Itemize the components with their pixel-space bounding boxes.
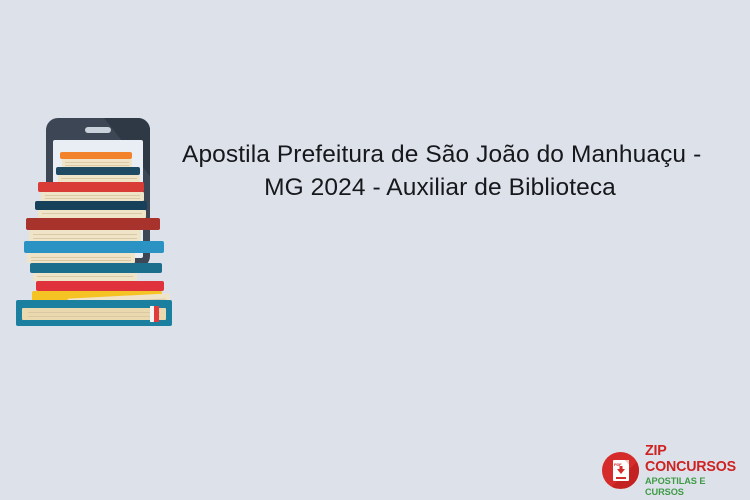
bookmark-ribbon	[154, 306, 159, 322]
book-lightblue	[24, 241, 164, 253]
book-navy-second-pages	[58, 175, 140, 182]
pdf-download-circle-icon: PDF	[602, 452, 639, 489]
book-teal-mid	[30, 263, 162, 273]
logo-title: ZIP CONCURSOS	[645, 443, 739, 475]
bookmark-ribbon-white	[150, 306, 154, 322]
books-illustration	[8, 110, 178, 320]
book-red-pages	[41, 192, 144, 201]
book-navy-third	[35, 201, 147, 210]
zip-concursos-logo[interactable]: PDF ZIP CONCURSOS APOSTILAS E CURSOS	[602, 450, 744, 490]
logo-text-group: ZIP CONCURSOS APOSTILAS E CURSOS	[645, 443, 744, 498]
book-crimson	[36, 281, 164, 291]
pdf-document-icon: PDF	[613, 460, 629, 481]
book-orange-top	[60, 152, 132, 159]
book-red	[38, 182, 144, 192]
book-navy-second	[56, 167, 140, 175]
book-teal-bottom-pages	[22, 308, 166, 320]
smartphone-speaker	[85, 127, 111, 133]
book-teal-mid-pages	[33, 273, 137, 281]
download-arrow-icon	[617, 469, 625, 474]
doc-base-bar	[616, 477, 626, 479]
book-maroon-pages	[29, 230, 141, 241]
doc-fold	[624, 460, 629, 465]
book-maroon	[26, 218, 160, 230]
book-orange-top-pages	[62, 159, 132, 167]
page-title-line-1: Apostila Prefeitura de São João do Manhu…	[182, 138, 698, 171]
page-title-line-2: MG 2024 - Auxiliar de Biblioteca	[182, 171, 698, 204]
book-lightblue-pages	[27, 253, 135, 263]
product-banner: Apostila Prefeitura de São João do Manhu…	[0, 0, 750, 500]
page-title: Apostila Prefeitura de São João do Manhu…	[182, 138, 698, 204]
book-navy-third-pages	[38, 210, 146, 218]
logo-subtitle: APOSTILAS E CURSOS	[645, 476, 741, 498]
